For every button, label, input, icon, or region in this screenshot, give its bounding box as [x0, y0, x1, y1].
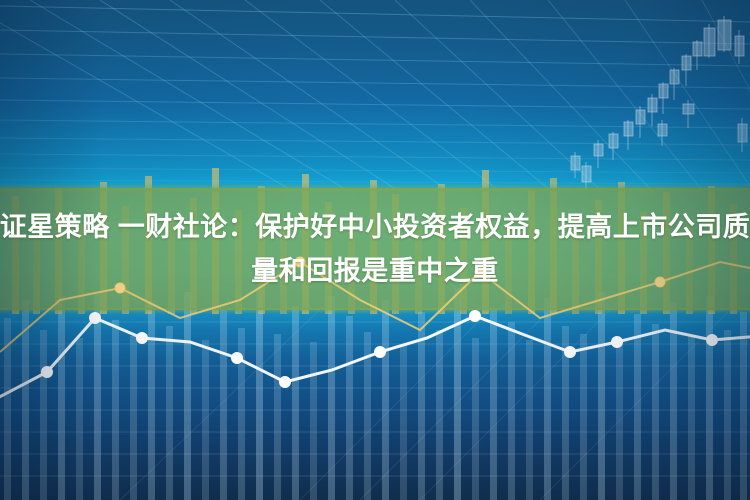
banner-title: 证星策略 一财社论：保护好中小投资者权益，提高上市公司质 量和回报是重中之重 [0, 188, 750, 310]
title-line-2: 量和回报是重中之重 [251, 249, 499, 293]
banner-image: 证星策略 一财社论：保护好中小投资者权益，提高上市公司质 量和回报是重中之重 [0, 0, 750, 500]
title-line-1: 证星策略 一财社论：保护好中小投资者权益，提高上市公司质 [0, 205, 750, 249]
